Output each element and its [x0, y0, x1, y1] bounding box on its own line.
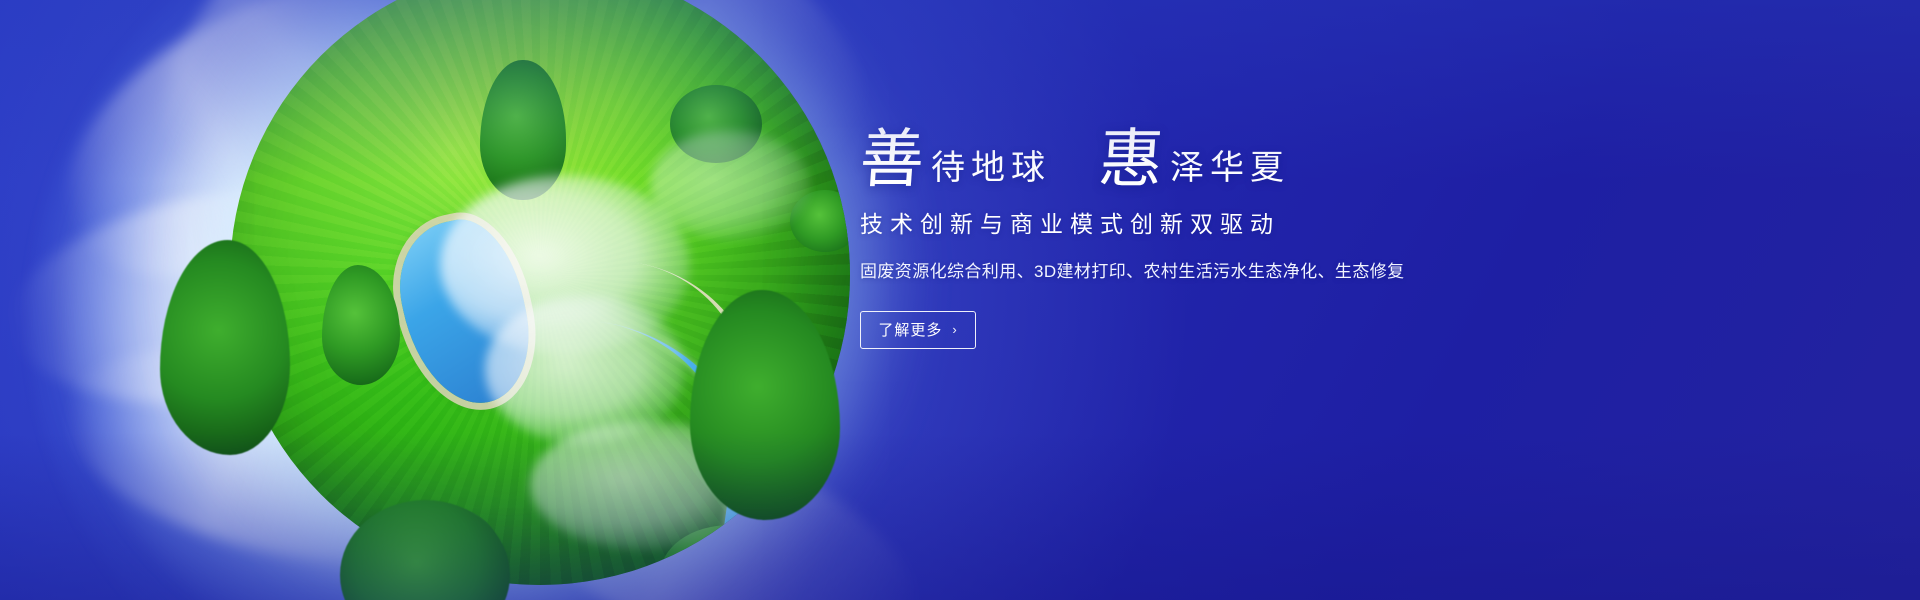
learn-more-label: 了解更多 [878, 319, 942, 340]
headline-char-2: 惠 [1097, 128, 1166, 192]
headline-rest-2: 泽华夏 [1170, 152, 1290, 192]
chevron-right-icon: › [952, 322, 957, 337]
tiny-planet-artwork [90, 0, 920, 600]
cloud-icon [650, 130, 810, 240]
headline-char-1: 善 [858, 128, 927, 192]
hero-content: 善 待地球 惠 泽华夏 技术创新与商业模式创新双驱动 固废资源化综合利用、3D建… [860, 128, 1380, 349]
hero-banner: 善 待地球 惠 泽华夏 技术创新与商业模式创新双驱动 固废资源化综合利用、3D建… [0, 0, 1920, 600]
page-title: 善 待地球 惠 泽华夏 [860, 128, 1380, 192]
hero-description: 固废资源化综合利用、3D建材打印、农村生活污水生态净化、生态修复 [860, 260, 1380, 285]
learn-more-button[interactable]: 了解更多 › [860, 311, 976, 349]
hero-subtitle: 技术创新与商业模式创新双驱动 [860, 210, 1380, 240]
headline-rest-1: 待地球 [931, 152, 1051, 192]
